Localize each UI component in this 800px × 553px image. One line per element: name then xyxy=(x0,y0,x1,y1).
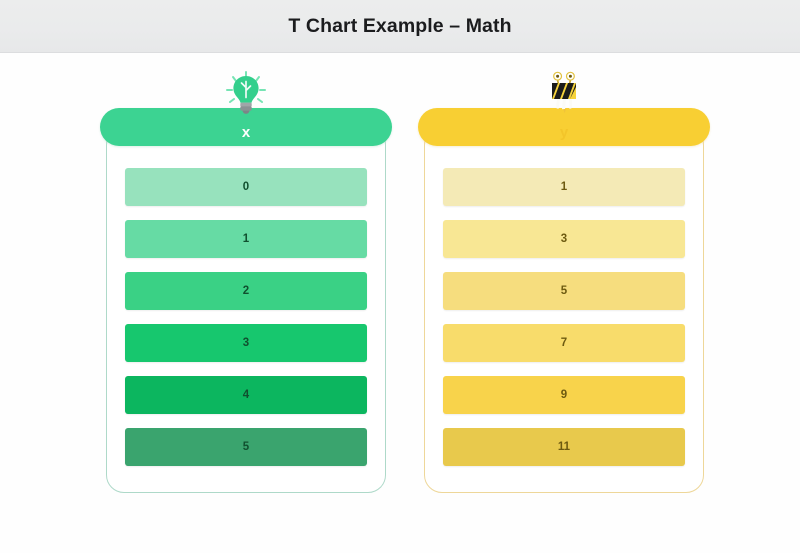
table-row[interactable]: 1 xyxy=(443,168,685,206)
table-row[interactable]: 5 xyxy=(125,428,367,466)
column-x-cells: 0 1 2 3 4 5 xyxy=(107,168,385,466)
chart-stage: x 0 1 2 3 4 5 xyxy=(0,53,800,553)
table-row[interactable]: 9 xyxy=(443,376,685,414)
column-x-body: 0 1 2 3 4 5 xyxy=(106,127,386,493)
page-header-bar: T Chart Example – Math xyxy=(0,0,800,53)
column-x-header[interactable]: x xyxy=(100,108,392,146)
column-y-header[interactable]: y xyxy=(418,108,710,146)
table-row[interactable]: 3 xyxy=(443,220,685,258)
column-x-label: x xyxy=(242,125,250,140)
column-y-cells: 1 3 5 7 9 11 xyxy=(425,168,703,466)
chart-column-x: x 0 1 2 3 4 5 xyxy=(100,108,392,493)
table-row[interactable]: 7 xyxy=(443,324,685,362)
table-row[interactable]: 5 xyxy=(443,272,685,310)
chart-column-y: y 1 3 5 7 9 11 xyxy=(418,108,710,493)
table-row[interactable]: 11 xyxy=(443,428,685,466)
table-row[interactable]: 3 xyxy=(125,324,367,362)
column-y-body: 1 3 5 7 9 11 xyxy=(424,127,704,493)
table-row[interactable]: 1 xyxy=(125,220,367,258)
table-row[interactable]: 0 xyxy=(125,168,367,206)
column-y-label: y xyxy=(560,125,568,140)
page-title: T Chart Example – Math xyxy=(288,15,511,38)
table-row[interactable]: 2 xyxy=(125,272,367,310)
table-row[interactable]: 4 xyxy=(125,376,367,414)
